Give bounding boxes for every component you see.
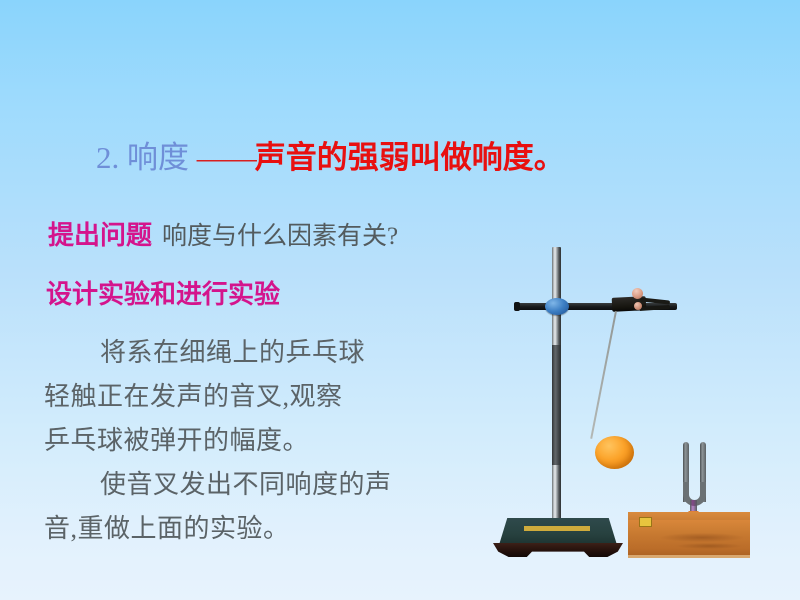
body-line: 轻触正在发声的音叉,观察	[44, 375, 474, 419]
design-experiment-label: 设计实验和进行实验	[46, 280, 280, 309]
resonance-box-label-tag	[639, 517, 652, 527]
slide-canvas: 2. 响度 ——声音的强弱叫做响度。 提出问题响度与什么因素有关? 设计实验和进…	[0, 0, 800, 600]
body-text-block: 将系在细绳上的乒乓球 轻触正在发声的音叉,观察 乒乓球被弹开的幅度。 使音叉发出…	[44, 331, 474, 551]
stand-base-label-strip	[524, 526, 590, 531]
wood-grain-mark	[676, 543, 742, 549]
body-line-text: 将系在细绳上的乒乓球	[100, 338, 365, 367]
retort-stand-rod-shadow	[552, 345, 561, 465]
stand-base-foot	[493, 543, 623, 557]
stand-base-plate	[499, 518, 617, 545]
cross-rod-end-cap	[514, 302, 520, 311]
orange-ping-pong-ball	[595, 436, 634, 469]
clamp-jaw-lower	[639, 305, 670, 311]
title-dash: ——	[197, 140, 255, 175]
question-row: 提出问题响度与什么因素有关?	[48, 219, 398, 257]
question-label: 提出问题	[48, 221, 152, 250]
body-line: 将系在细绳上的乒乓球	[44, 331, 474, 375]
suspension-thread	[590, 311, 616, 439]
wood-grain-mark	[660, 533, 744, 542]
design-experiment-heading: 设计实验和进行实验	[46, 278, 280, 316]
slide-title: 2. 响度 ——声音的强弱叫做响度。	[96, 139, 565, 177]
clamp-screw-lower	[634, 302, 642, 310]
body-line: 乒乓球被弹开的幅度。	[44, 419, 474, 463]
body-line: 音,重做上面的实验。	[44, 507, 474, 551]
title-definition-text: 声音的强弱叫做响度。	[255, 140, 565, 175]
resonance-box-base-edge	[628, 555, 750, 558]
question-text: 响度与什么因素有关?	[162, 223, 398, 250]
blue-boss-head-knob	[545, 298, 569, 315]
body-line: 使音叉发出不同响度的声	[44, 463, 474, 507]
body-line-text: 使音叉发出不同响度的声	[100, 470, 392, 499]
body-line-text: 音,重做上面的实验。	[44, 514, 290, 543]
title-number-label: 2. 响度	[96, 140, 197, 175]
body-line-text: 乒乓球被弹开的幅度。	[44, 426, 309, 455]
body-line-text: 轻触正在发声的音叉,观察	[44, 382, 343, 411]
